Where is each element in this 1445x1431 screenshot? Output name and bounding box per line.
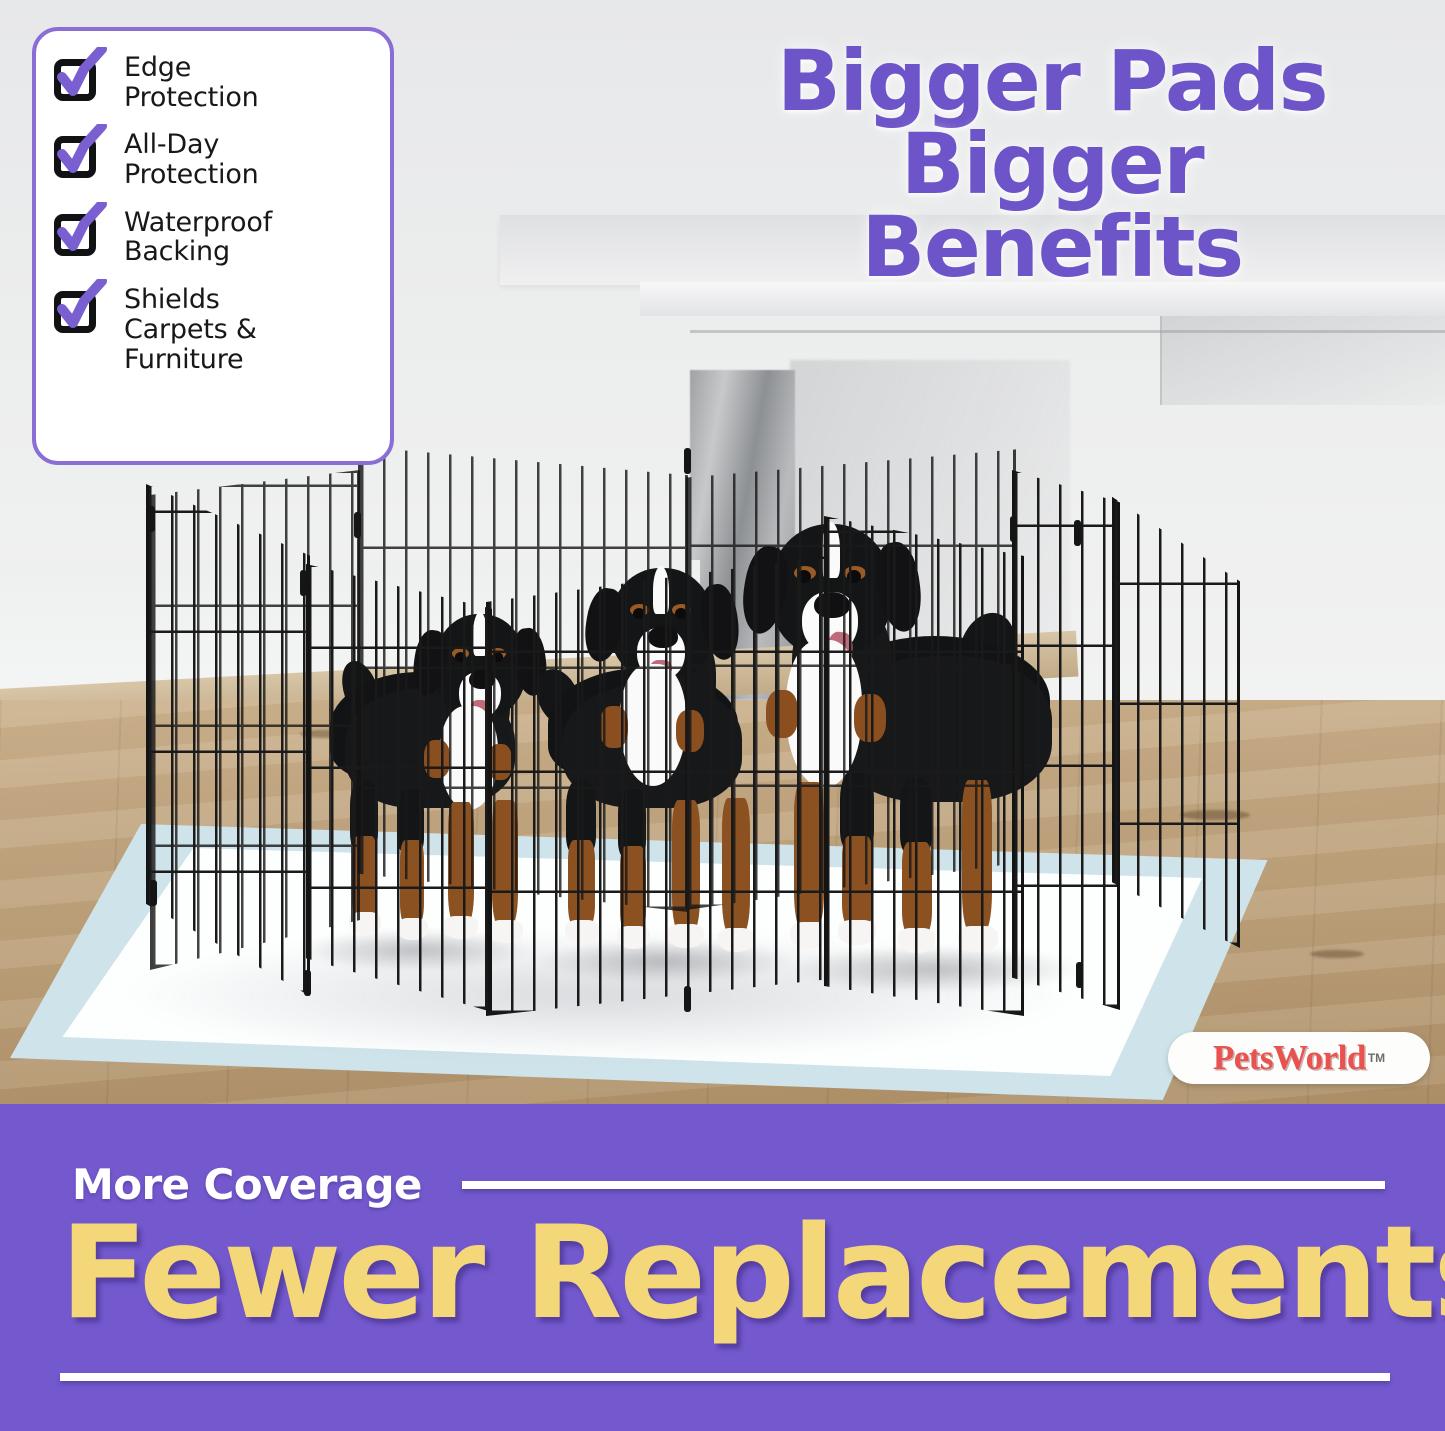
pen-hinge xyxy=(150,880,157,906)
product-photo: EdgeProtection All-DayProtection xyxy=(0,0,1445,1104)
checkbox-check-icon xyxy=(50,206,108,262)
pen-hinge xyxy=(304,970,311,996)
banner-heading: Fewer Replacements xyxy=(60,1210,1390,1338)
feature-label: EdgeProtection xyxy=(124,49,259,112)
checkbox-check-icon xyxy=(50,128,108,184)
bottom-banner: More Coverage Fewer Replacements xyxy=(0,1104,1445,1431)
banner-rule-top xyxy=(462,1181,1385,1189)
feature-item-edge-protection: EdgeProtection xyxy=(50,49,374,112)
feature-item-all-day-protection: All-DayProtection xyxy=(50,126,374,189)
feature-item-waterproof-backing: WaterproofBacking xyxy=(50,204,374,267)
headline-line-2: Bigger Benefits xyxy=(712,123,1392,289)
pen-panel-front-right xyxy=(824,516,1024,1016)
trademark-symbol: TM xyxy=(1368,1051,1385,1065)
pen-panel-front-left xyxy=(306,564,492,1012)
feature-label: ShieldsCarpets &Furniture xyxy=(124,281,257,374)
brand-name: PetsWorld xyxy=(1213,1038,1366,1078)
pen-hinge xyxy=(684,448,691,474)
product-marketing-poster: EdgeProtection All-DayProtection xyxy=(0,0,1445,1431)
feature-label: WaterproofBacking xyxy=(124,204,272,267)
brand-logo: PetsWorldTM xyxy=(1168,1032,1430,1084)
pen-panel-right-far xyxy=(1112,478,1240,948)
pen-hinge xyxy=(1010,516,1017,542)
pen-hinge xyxy=(1076,962,1083,988)
pen-hinge xyxy=(300,570,307,596)
headline: Bigger Pads Bigger Benefits xyxy=(712,40,1392,289)
banner-rule-bottom xyxy=(60,1373,1390,1381)
feature-item-shields-carpets-furniture: ShieldsCarpets &Furniture xyxy=(50,281,374,374)
pen-panel-front-center xyxy=(486,556,828,1016)
pen-hinge xyxy=(354,512,361,538)
checkbox-check-icon xyxy=(50,51,108,107)
feature-label: All-DayProtection xyxy=(124,126,259,189)
checkbox-check-icon xyxy=(50,283,108,339)
pen-hinge xyxy=(684,986,691,1012)
feature-benefits-card: EdgeProtection All-DayProtection xyxy=(32,27,394,465)
pen-panel-right xyxy=(1012,470,1120,1010)
pen-hinge xyxy=(148,506,155,532)
pen-hinge xyxy=(1074,520,1081,546)
